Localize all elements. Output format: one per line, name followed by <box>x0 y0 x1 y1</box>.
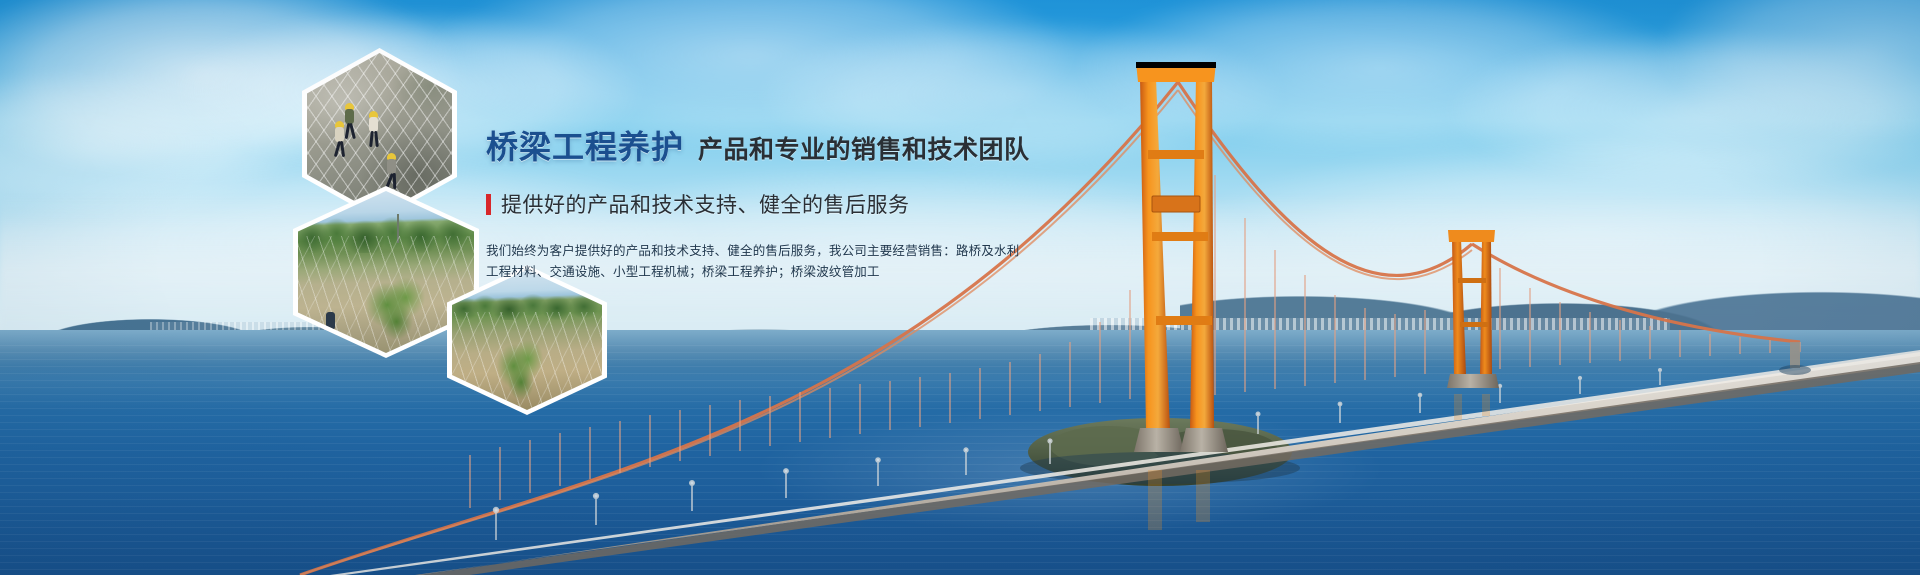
headline-secondary: 产品和专业的销售和技术团队 <box>698 130 1030 166</box>
banner-headline: 桥梁工程养护 产品和专业的销售和技术团队 <box>486 122 1106 168</box>
gallery-hex-3[interactable] <box>447 265 607 415</box>
banner-body-copy: 我们始终为客户提供好的产品和技术支持、健全的售后服务，我公司主要经营销售：路桥及… <box>486 241 1106 283</box>
hex-photo-roadside-slope-protection <box>452 270 602 410</box>
suspension-bridge <box>0 0 1920 575</box>
hero-banner: 桥梁工程养护 产品和专业的销售和技术团队 提供好的产品和技术支持、健全的售后服务… <box>0 0 1920 575</box>
body-line-2: 工程材料、交通设施、小型工程机械；桥梁工程养护；桥梁波纹管加工 <box>486 262 1106 283</box>
bridge-far-pier <box>1779 342 1811 375</box>
subheadline-text: 提供好的产品和技术支持、健全的售后服务 <box>501 189 910 219</box>
worker-figure <box>326 312 335 330</box>
banner-copy: 桥梁工程养护 产品和专业的销售和技术团队 提供好的产品和技术支持、健全的售后服务… <box>486 122 1106 283</box>
banner-subheadline: 提供好的产品和技术支持、健全的售后服务 <box>486 189 1106 219</box>
headline-primary: 桥梁工程养护 <box>486 122 684 168</box>
accent-bar <box>486 194 491 215</box>
hex-frame <box>447 265 607 415</box>
bridge-tower-main <box>1134 62 1228 452</box>
body-line-1: 我们始终为客户提供好的产品和技术支持、健全的售后服务，我公司主要经营销售：路桥及… <box>486 241 1106 262</box>
